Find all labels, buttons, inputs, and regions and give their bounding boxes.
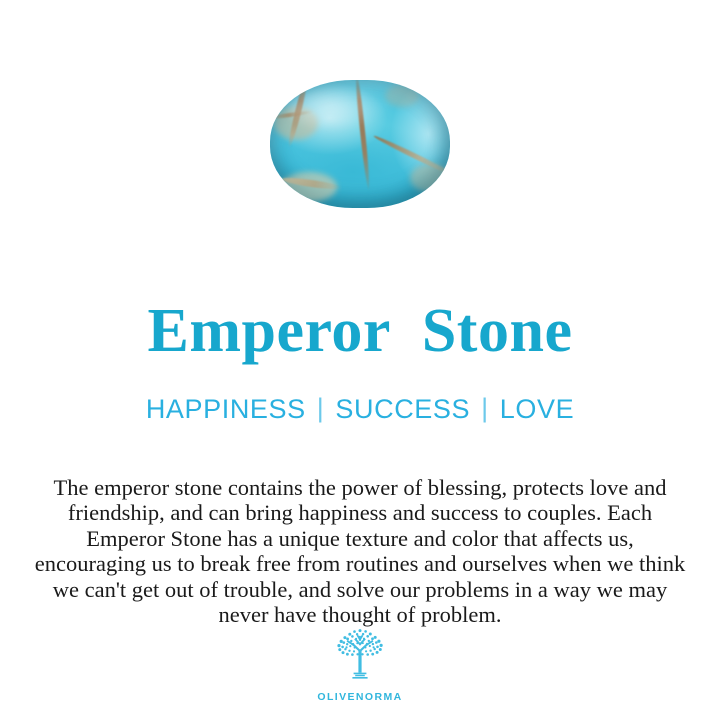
keyword-success: SUCCESS (335, 394, 470, 424)
hero-image-container (0, 78, 720, 210)
keyword-list: HAPPINESS|SUCCESS|LOVE (0, 396, 720, 423)
description-paragraph: The emperor stone contains the power of … (34, 475, 686, 628)
page-title: Emperor Stone (0, 300, 720, 362)
brand-logo: OLIVENORMA (0, 626, 720, 703)
brand-name: OLIVENORMA (317, 691, 402, 703)
emperor-stone-image (270, 80, 450, 208)
tree-of-life-icon (323, 626, 397, 689)
keyword-separator: | (470, 395, 500, 422)
keyword-love: LOVE (500, 394, 574, 424)
keyword-separator: | (306, 395, 336, 422)
keyword-happiness: HAPPINESS (146, 394, 306, 424)
product-info-card: Emperor Stone HAPPINESS|SUCCESS|LOVE The… (0, 0, 720, 720)
stone-rim-shading (270, 80, 450, 208)
